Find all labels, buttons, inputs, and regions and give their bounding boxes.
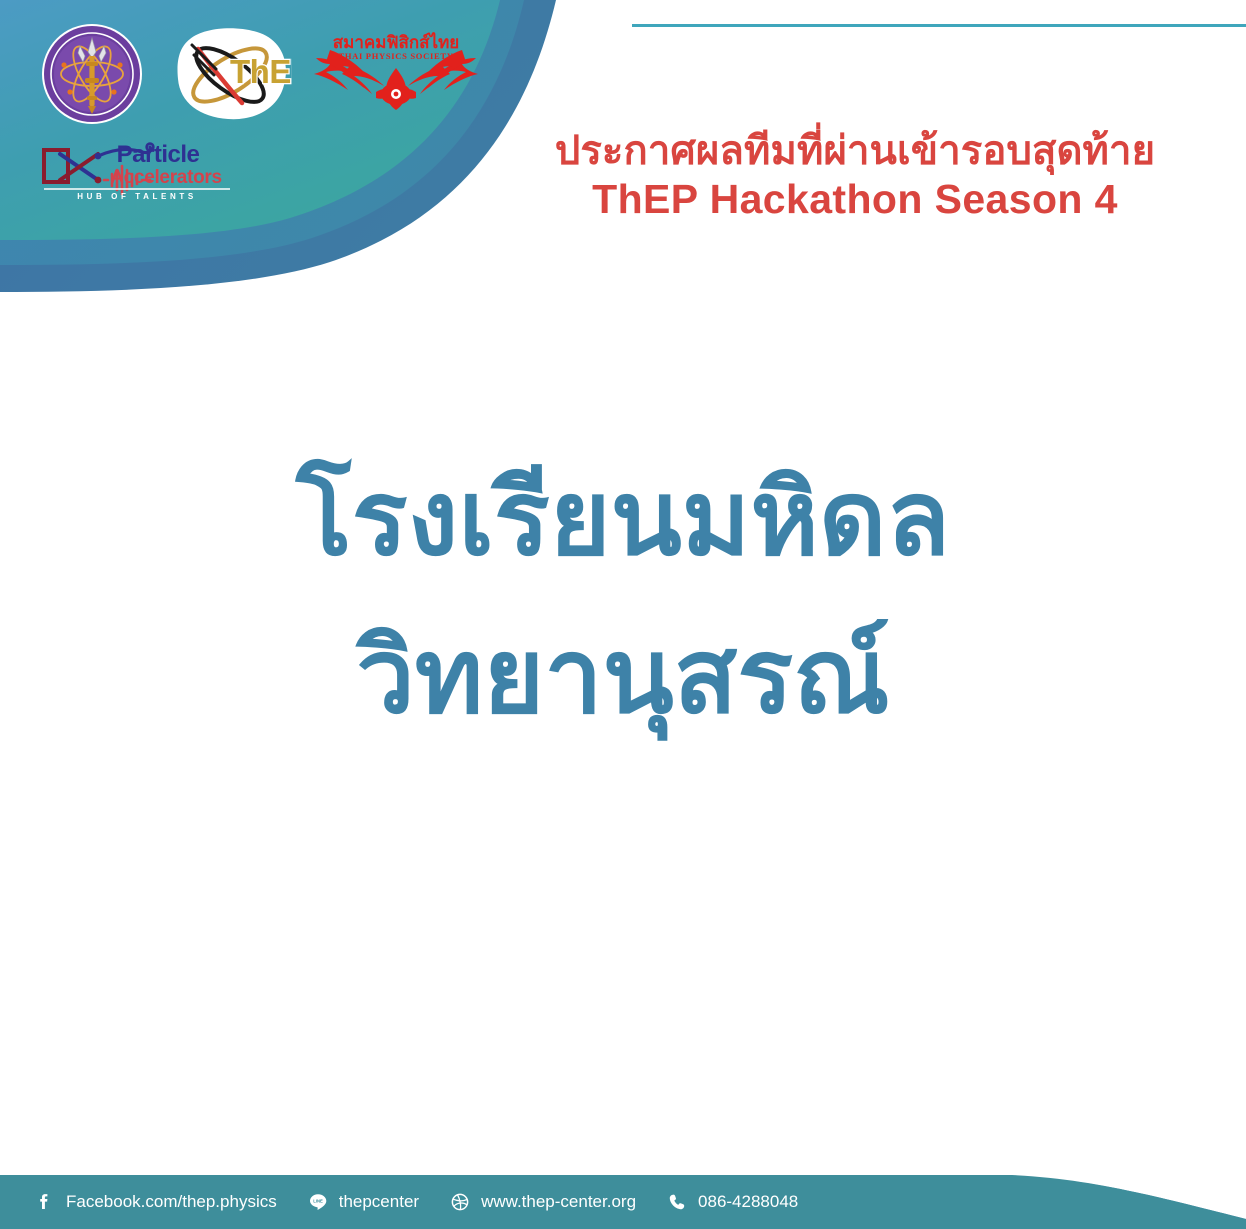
poster-canvas: ThEP [0, 0, 1246, 1229]
footer-label-website: www.thep-center.org [481, 1193, 636, 1211]
svg-text:THAI PHYSICS SOCIETY: THAI PHYSICS SOCIETY [338, 51, 453, 61]
footer-label-line: thepcenter [339, 1193, 419, 1211]
footer-label-phone: 086-4288048 [698, 1193, 798, 1211]
footer-item-facebook[interactable]: Facebook.com/thep.physics [34, 1191, 277, 1213]
svg-text:ThEP: ThEP [230, 53, 292, 90]
svg-text:Accelerators: Accelerators [110, 167, 222, 188]
svg-text:Particle: Particle [117, 141, 200, 168]
heading-line-english: ThEP Hackathon Season 4 [500, 175, 1210, 223]
globe-icon [449, 1191, 471, 1213]
particle-accelerators-logo: Particle Accelerators HUB OF TALENTS [38, 140, 236, 202]
heading-line-thai: ประกาศผลทีมที่ผ่านเข้ารอบสุดท้าย [500, 128, 1210, 175]
footer-label-facebook: Facebook.com/thep.physics [66, 1193, 277, 1211]
footer-contact-bar: Facebook.com/thep.physics LINE thepcente… [0, 1175, 1246, 1229]
srinakharinwirot-seal-logo [40, 22, 144, 126]
phone-icon [666, 1191, 688, 1213]
thai-physics-society-logo: สมาคมฟิสิกส์ไทย THAI PHYSICS SOCIETY [310, 28, 482, 118]
line-icon: LINE [307, 1191, 329, 1213]
thep-atom-icon: ThEP [178, 28, 293, 119]
thep-logo: ThEP [172, 25, 292, 123]
team-name-line-2: วิทยานุสรณ์ [0, 598, 1246, 756]
announcement-heading: ประกาศผลทีมที่ผ่านเข้ารอบสุดท้าย ThEP Ha… [500, 128, 1210, 224]
footer-item-line[interactable]: LINE thepcenter [307, 1191, 419, 1213]
footer-item-website[interactable]: www.thep-center.org [449, 1191, 636, 1213]
svg-text:LINE: LINE [313, 1198, 323, 1203]
logo-strip: ThEP [0, 0, 520, 215]
svg-text:สมาคมฟิสิกส์ไทย: สมาคมฟิสิกส์ไทย [333, 32, 460, 52]
header-accent-line [632, 24, 1246, 27]
team-name-line-1: โรงเรียนมหิดล [0, 440, 1246, 598]
facebook-icon [34, 1191, 56, 1213]
winning-team-name: โรงเรียนมหิดล วิทยานุสรณ์ [0, 440, 1246, 756]
svg-text:HUB OF TALENTS: HUB OF TALENTS [77, 192, 197, 201]
footer-item-phone[interactable]: 086-4288048 [666, 1191, 798, 1213]
